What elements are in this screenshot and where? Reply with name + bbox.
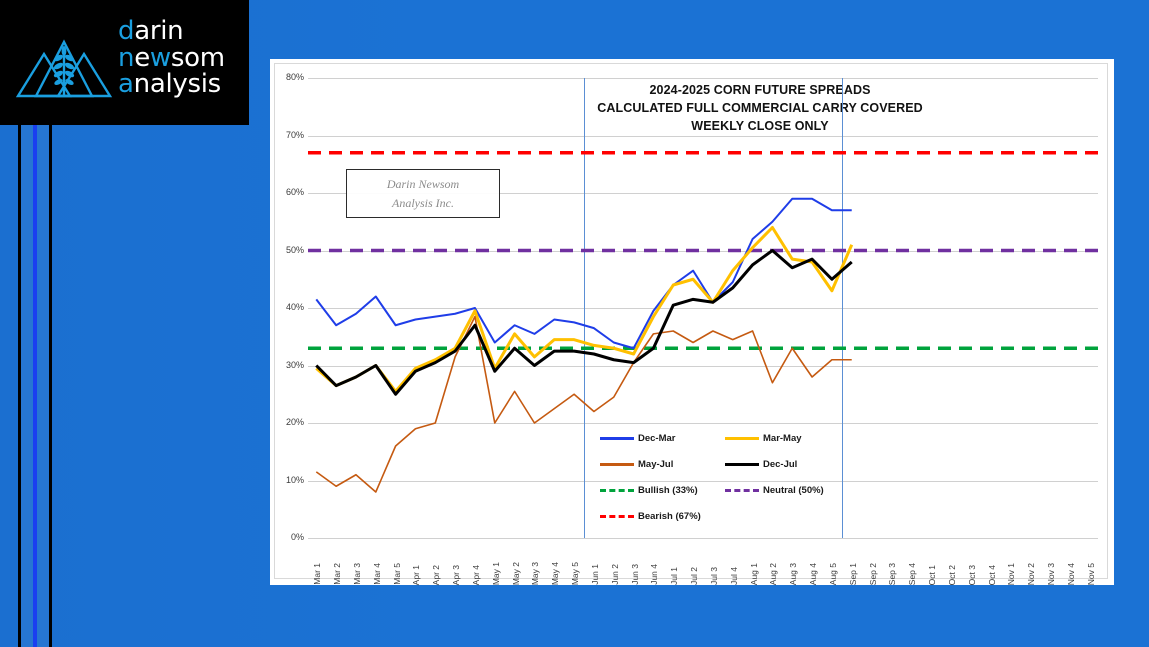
x-axis-tick-label: Jun 2 — [610, 564, 620, 585]
watermark-line-1: Darin Newsom — [387, 175, 459, 194]
x-axis-tick-label: Apr 3 — [451, 565, 461, 585]
x-axis-tick-label: Mar 1 — [312, 563, 322, 585]
brand-darin-rest: arin — [134, 16, 183, 46]
x-axis-tick-label: Mar 3 — [352, 563, 362, 585]
legend-row: Bullish (33%)Neutral (50%) — [600, 477, 850, 503]
x-axis-tick-label: Jun 1 — [590, 564, 600, 585]
legend-label: Neutral (50%) — [763, 485, 824, 496]
x-axis-tick-label: Mar 4 — [372, 563, 382, 585]
x-axis-tick-label: May 5 — [570, 562, 580, 585]
x-axis-tick-label: Jul 3 — [709, 567, 719, 585]
y-axis-tick-label: 20% — [244, 417, 304, 427]
x-axis-tick-label: Apr 1 — [411, 565, 421, 585]
legend-item-bearish[interactable]: Bearish (67%) — [600, 511, 725, 522]
y-axis-tick-label: 40% — [244, 302, 304, 312]
legend-swatch-icon — [600, 515, 634, 518]
brand-newsom-som: som — [171, 43, 225, 73]
y-axis-tick-label: 80% — [244, 72, 304, 82]
x-axis-tick-label: Oct 3 — [967, 565, 977, 585]
x-axis-tick-label: May 1 — [491, 562, 501, 585]
legend-item-mar-may[interactable]: Mar-May — [725, 433, 850, 444]
mountains-wheat-icon — [14, 22, 114, 104]
legend-label: Bearish (67%) — [638, 511, 701, 522]
y-axis-tick-label: 60% — [244, 187, 304, 197]
chart-card: 2024-2025 CORN FUTURE SPREADS CALCULATED… — [270, 59, 1114, 585]
legend-item-dec-jul[interactable]: Dec-Jul — [725, 459, 850, 470]
x-axis-tick-label: Aug 2 — [768, 563, 778, 585]
brand-wordmark: darin newsom analysis — [118, 18, 246, 98]
x-axis-tick-label: Jul 1 — [669, 567, 679, 585]
x-axis-tick-label: Sep 2 — [868, 563, 878, 585]
legend-swatch-icon — [600, 489, 634, 492]
series-line-dec-mar — [316, 199, 851, 349]
x-axis-tick-label: Oct 2 — [947, 565, 957, 585]
legend-item-may-jul[interactable]: May-Jul — [600, 459, 725, 470]
chart-legend: Dec-MarMar-MayMay-JulDec-JulBullish (33%… — [600, 425, 850, 529]
brand-line-darin: darin — [118, 18, 246, 45]
gridline — [308, 538, 1098, 539]
legend-label: Dec-Mar — [638, 433, 676, 444]
x-axis-tick-label: Aug 3 — [788, 563, 798, 585]
x-axis-tick-label: Apr 2 — [431, 565, 441, 585]
x-axis-tick-label: Mar 5 — [392, 563, 402, 585]
legend-item-neutral[interactable]: Neutral (50%) — [725, 485, 850, 496]
x-axis-tick-label: Oct 1 — [927, 565, 937, 585]
x-axis-tick-label: Nov 3 — [1046, 563, 1056, 585]
x-axis-tick-label: Jul 2 — [689, 567, 699, 585]
legend-swatch-icon — [725, 437, 759, 440]
x-axis-tick-label: Sep 4 — [907, 563, 917, 585]
x-axis-tick-label: May 2 — [511, 562, 521, 585]
legend-item-bullish[interactable]: Bullish (33%) — [600, 485, 725, 496]
y-axis-tick-label: 0% — [244, 532, 304, 542]
x-axis-labels: Mar 1Mar 2Mar 3Mar 4Mar 5Apr 1Apr 2Apr 3… — [308, 541, 1098, 585]
series-line-dec-jul — [316, 251, 851, 395]
legend-swatch-icon — [600, 463, 634, 466]
legend-item-dec-mar[interactable]: Dec-Mar — [600, 433, 725, 444]
legend-row: Bearish (67%) — [600, 503, 850, 529]
brand-line-analysis: analysis — [118, 71, 246, 98]
x-axis-tick-label: May 3 — [530, 562, 540, 585]
legend-row: Dec-MarMar-May — [600, 425, 850, 451]
brand-analysis-a: a — [118, 69, 134, 99]
y-axis-tick-label: 10% — [244, 475, 304, 485]
x-axis-tick-label: Apr 4 — [471, 565, 481, 585]
y-axis-tick-label: 70% — [244, 130, 304, 140]
legend-label: May-Jul — [638, 459, 673, 470]
x-axis-tick-label: Aug 4 — [808, 563, 818, 585]
x-axis-tick-label: Aug 1 — [749, 563, 759, 585]
brand-newsom-w: w — [150, 43, 171, 73]
legend-swatch-icon — [725, 489, 759, 492]
x-axis-tick-label: Nov 4 — [1066, 563, 1076, 585]
legend-swatch-icon — [725, 463, 759, 466]
y-axis-tick-label: 30% — [244, 360, 304, 370]
x-axis-tick-label: Nov 1 — [1006, 563, 1016, 585]
legend-label: Bullish (33%) — [638, 485, 698, 496]
legend-label: Mar-May — [763, 433, 802, 444]
y-axis-tick-label: 50% — [244, 245, 304, 255]
x-axis-tick-label: Mar 2 — [332, 563, 342, 585]
brand-logo: darin newsom analysis — [0, 0, 249, 125]
x-axis-tick-label: May 4 — [550, 562, 560, 585]
x-axis-tick-label: Nov 5 — [1086, 563, 1096, 585]
brand-analysis-rest: nalysis — [134, 69, 221, 99]
legend-swatch-icon — [600, 437, 634, 440]
x-axis-tick-label: Sep 1 — [848, 563, 858, 585]
x-axis-tick-label: Sep 3 — [887, 563, 897, 585]
x-axis-tick-label: Jul 4 — [729, 567, 739, 585]
x-axis-tick-label: Jun 4 — [649, 564, 659, 585]
x-axis-tick-label: Jun 3 — [630, 564, 640, 585]
watermark: Darin Newsom Analysis Inc. — [346, 169, 500, 218]
legend-row: May-JulDec-Jul — [600, 451, 850, 477]
watermark-line-2: Analysis Inc. — [392, 194, 454, 213]
brand-line-newsom: newsom — [118, 45, 246, 72]
brand-newsom-n: n — [118, 43, 134, 73]
brand-newsom-e: e — [134, 43, 150, 73]
legend-label: Dec-Jul — [763, 459, 797, 470]
x-axis-tick-label: Aug 5 — [828, 563, 838, 585]
brand-darin-first: d — [118, 16, 134, 46]
x-axis-tick-label: Oct 4 — [987, 565, 997, 585]
x-axis-tick-label: Nov 2 — [1026, 563, 1036, 585]
